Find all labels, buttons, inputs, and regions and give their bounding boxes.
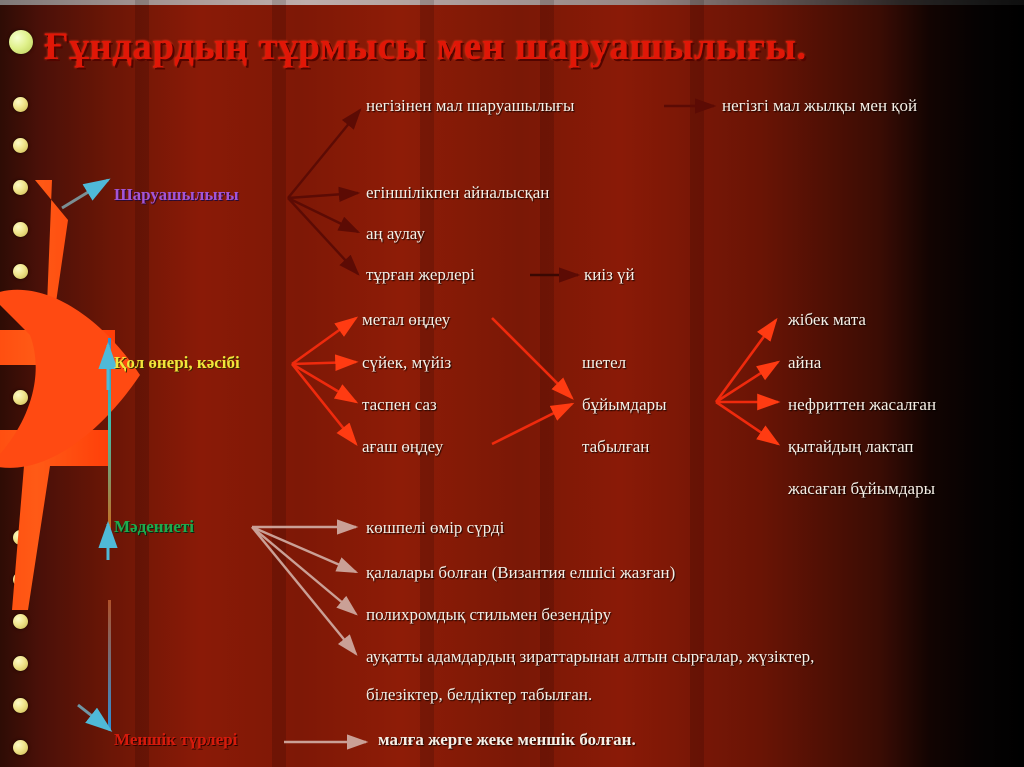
leaf-economy-1: егіншілікпен айналысқан: [366, 183, 549, 203]
leaf-import-3: нефриттен жасалған: [788, 395, 936, 415]
leaf-culture-2: қалалары болған (Византия елшісі жазған): [366, 563, 675, 583]
bullet-dot: [13, 97, 28, 112]
leaf-import-1: жібек мата: [788, 310, 866, 330]
leaf-economy-2: аң аулау: [366, 224, 425, 244]
leaf-economy-3-sub: киіз үй: [584, 265, 635, 285]
leaf-craft-4: ағаш өңдеу: [362, 437, 443, 457]
bullet-dot: [9, 30, 33, 54]
node-craft: Қол өнері, кәсібі: [114, 353, 240, 373]
node-connector-line-lower: [108, 600, 111, 730]
leaf-import-2: айна: [788, 353, 821, 373]
leaf-economy-3: тұрған жерлері: [366, 265, 475, 285]
leaf-foreign-3: табылған: [582, 437, 649, 457]
leaf-import-5: жасаған бұйымдары: [788, 479, 935, 499]
leaf-craft-3: таспен саз: [362, 395, 437, 415]
node-connector-line: [108, 338, 111, 533]
orange-chevron-head: [0, 255, 160, 515]
bullet-dot: [13, 698, 28, 713]
bullet-dot: [13, 656, 28, 671]
slide-canvas: Ғұндардың тұрмысы мен шаруашылығы. негіз…: [0, 0, 1024, 767]
leaf-culture-4: ауқатты адамдардың зираттарынан алтын сы…: [366, 647, 814, 667]
leaf-property-1: малға жерге жеке меншік болған.: [378, 730, 636, 750]
leaf-foreign-1: шетел: [582, 353, 626, 373]
leaf-economy-main-detail: негізгі мал жылқы мен қой: [722, 96, 917, 116]
leaf-import-4: қытайдың лактап: [788, 437, 914, 457]
top-strip: [0, 0, 1024, 5]
node-property: Меншік түрлері: [114, 730, 237, 750]
leaf-foreign-2: бұйымдары: [582, 395, 667, 415]
leaf-economy-main: негізінен мал шаруашылығы: [366, 96, 574, 116]
leaf-craft-2: сүйек, мүйіз: [362, 353, 451, 373]
leaf-culture-1: көшпелі өмір сүрді: [366, 518, 504, 538]
bullet-dot: [13, 740, 28, 755]
page-title: Ғұндардың тұрмысы мен шаруашылығы.: [44, 24, 807, 69]
leaf-craft-1: метал өңдеу: [362, 310, 450, 330]
leaf-culture-5: білезіктер, белдіктер табылған.: [366, 685, 592, 705]
background-band: [272, 0, 286, 767]
leaf-culture-3: полихромдық стильмен безендіру: [366, 605, 611, 625]
node-culture: Мәдениеті: [114, 517, 194, 537]
bullet-dot: [13, 138, 28, 153]
node-economy: Шаруашылығы: [114, 185, 239, 205]
bullet-dot: [13, 614, 28, 629]
